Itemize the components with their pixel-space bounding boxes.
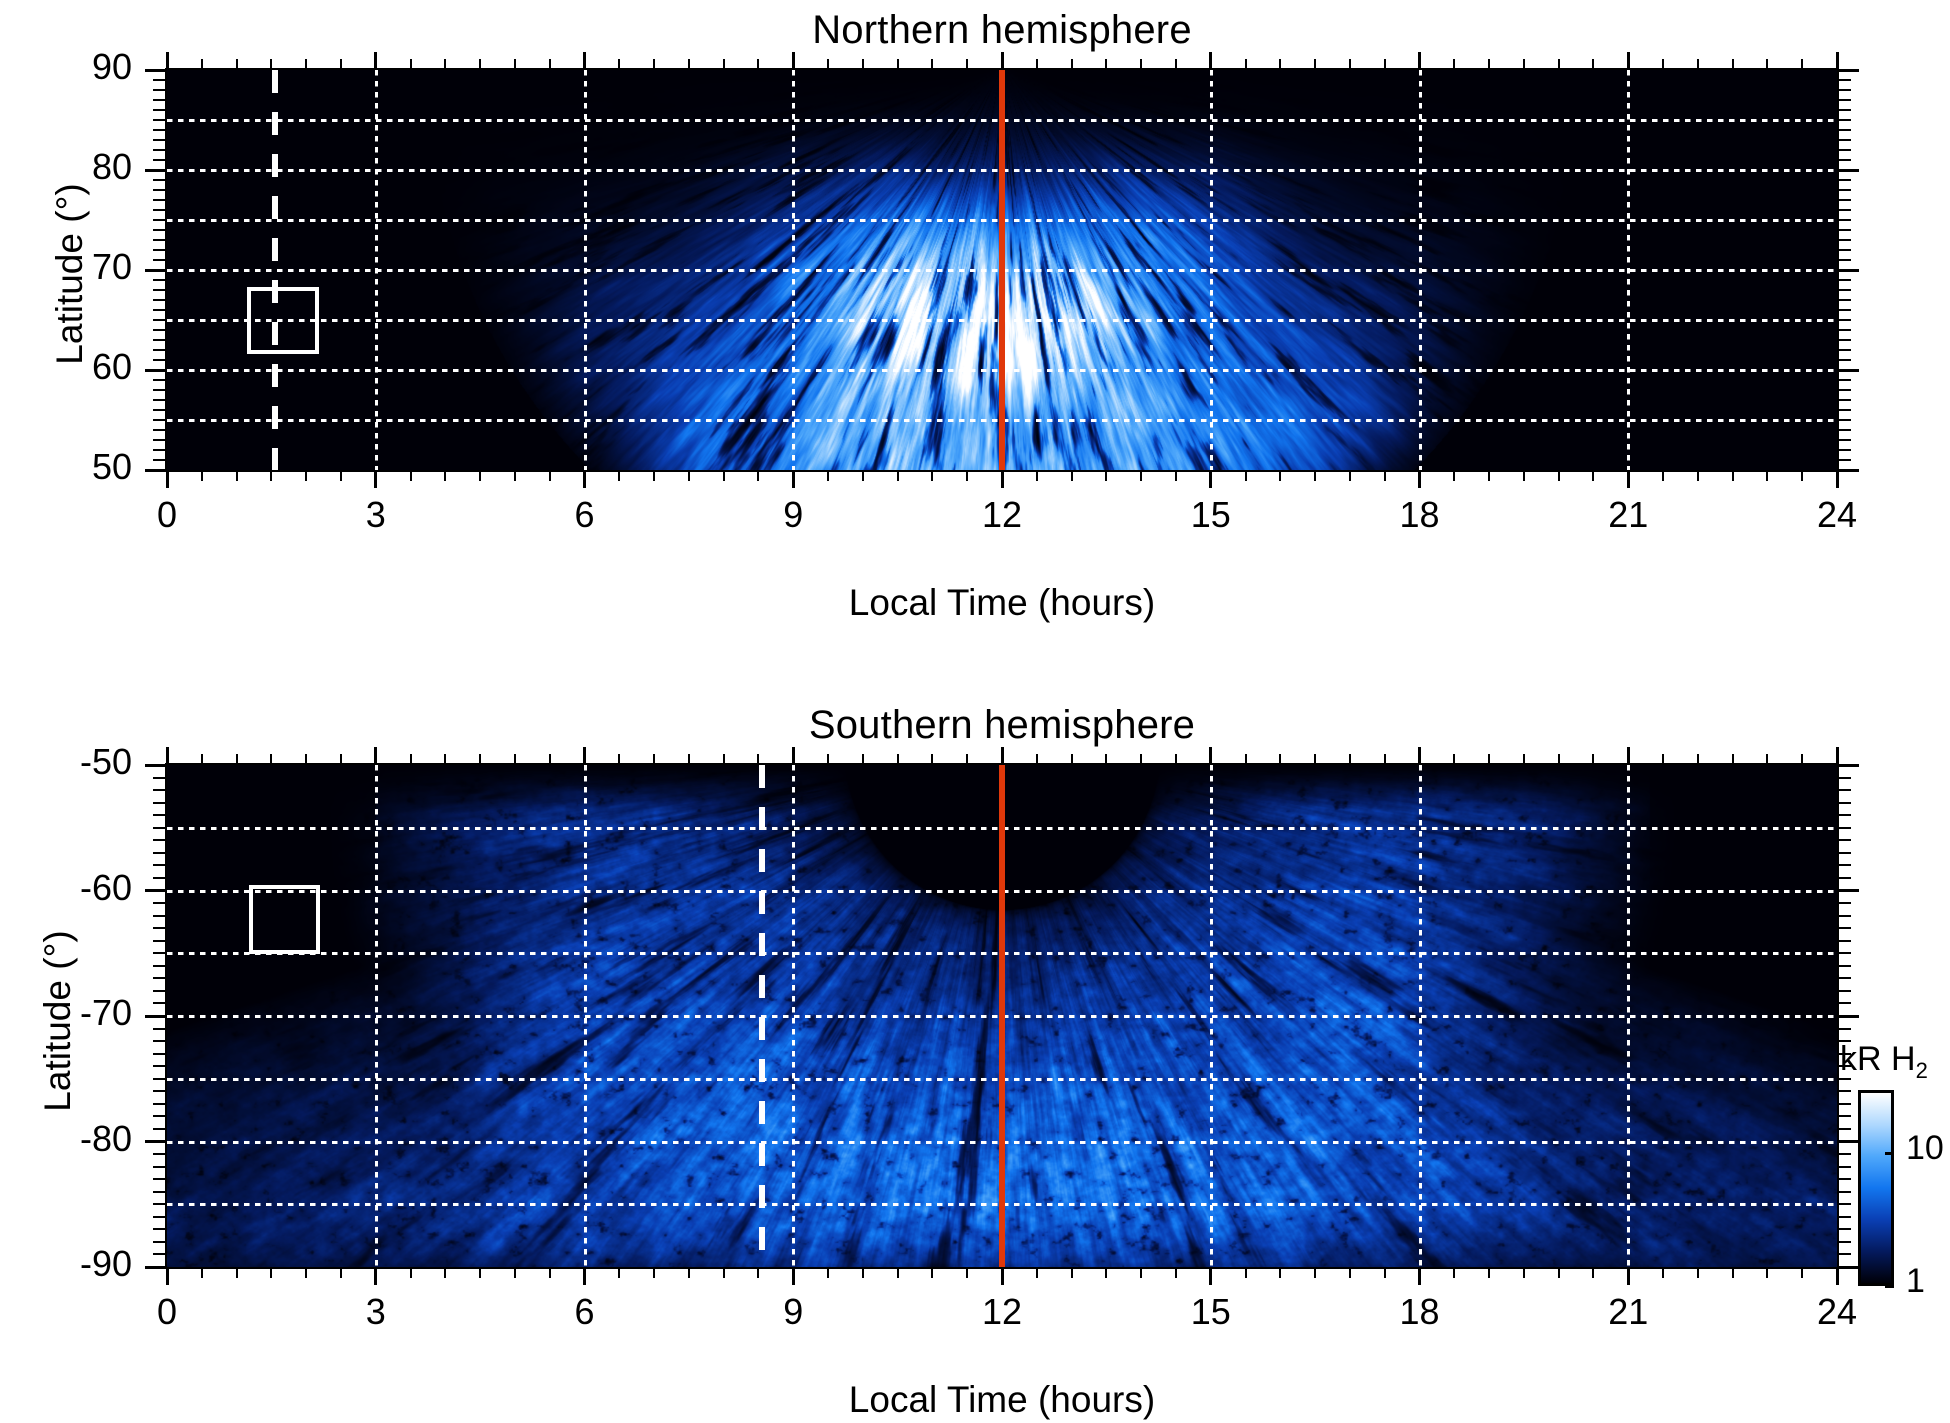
y-tick-minor [153, 459, 167, 461]
x-tick-minor [1349, 470, 1351, 481]
y-tick-minor-right [1837, 239, 1851, 241]
y-tick-label: 60 [2, 346, 132, 388]
x-tick-minor-top [305, 754, 307, 765]
x-tick-minor-top [1349, 59, 1351, 70]
y-tick-minor-right [1837, 79, 1851, 81]
y-tick-minor [153, 1216, 167, 1218]
x-tick-minor [1384, 470, 1386, 481]
x-tick-minor-top [1071, 59, 1073, 70]
x-tick-minor-top [653, 754, 655, 765]
x-tick-minor-top [514, 754, 516, 765]
y-tick-minor-right [1837, 149, 1851, 151]
colorbar[interactable] [1858, 1090, 1894, 1286]
y-tick-minor-right [1837, 777, 1851, 779]
x-tick-label: 24 [1777, 1291, 1897, 1333]
colorbar-tick-label: 10 [1906, 1129, 1944, 1168]
y-tick-minor-right [1837, 279, 1851, 281]
y-tick-minor-right [1837, 99, 1851, 101]
y-tick-label: -70 [2, 992, 132, 1034]
x-tick-minor [1697, 1267, 1699, 1278]
y-tick-minor-right [1837, 249, 1851, 251]
south-heatmap-panel[interactable] [167, 765, 1837, 1267]
x-tick-minor [340, 1267, 342, 1278]
x-tick-minor-top [1453, 754, 1455, 765]
x-tick-minor-top [1314, 754, 1316, 765]
x-tick-minor-top [1384, 754, 1386, 765]
y-tick-minor-right [1837, 1128, 1851, 1130]
colorbar-tick [1885, 1285, 1894, 1288]
south-panel-title: Southern hemisphere [167, 703, 1837, 748]
x-tick-major-top [1836, 52, 1839, 70]
y-tick-minor [153, 1241, 167, 1243]
x-tick-label: 3 [316, 1291, 436, 1333]
y-tick-minor [153, 449, 167, 451]
region-of-interest-box [247, 287, 319, 354]
y-tick-minor-right [1837, 1191, 1851, 1193]
y-tick-minor-right [1837, 1002, 1851, 1004]
x-tick-minor [201, 470, 203, 481]
x-tick-minor [653, 470, 655, 481]
x-tick-minor [444, 470, 446, 481]
y-tick-major-right [1837, 169, 1859, 172]
x-tick-minor-top [1245, 754, 1247, 765]
x-tick-minor [444, 1267, 446, 1278]
x-tick-major-top [1627, 747, 1630, 765]
y-tick-minor-right [1837, 915, 1851, 917]
x-tick-minor-top [1662, 59, 1664, 70]
x-tick-major [1209, 1267, 1212, 1285]
y-tick-minor [153, 1166, 167, 1168]
y-tick-minor [153, 789, 167, 791]
x-tick-minor-top [1140, 754, 1142, 765]
x-tick-minor-top [1349, 754, 1351, 765]
y-tick-major-right [1837, 269, 1859, 272]
y-tick-minor-right [1837, 179, 1851, 181]
y-tick-minor-right [1837, 119, 1851, 121]
x-tick-minor [1592, 1267, 1594, 1278]
north-panel-title: Northern hemisphere [167, 8, 1837, 53]
y-tick-label: 80 [2, 146, 132, 188]
y-tick-minor [153, 379, 167, 381]
x-tick-minor-top [897, 754, 899, 765]
y-tick-major-right [1837, 469, 1859, 472]
y-tick-minor-right [1837, 802, 1851, 804]
x-tick-minor-top [549, 754, 551, 765]
x-tick-minor-top [827, 59, 829, 70]
x-tick-label: 18 [1360, 494, 1480, 536]
x-tick-major-top [166, 747, 169, 765]
y-tick-minor-right [1837, 1090, 1851, 1092]
x-tick-minor-top [1732, 754, 1734, 765]
x-tick-minor-top [1175, 59, 1177, 70]
x-tick-minor [1245, 470, 1247, 481]
y-tick-minor-right [1837, 977, 1851, 979]
x-tick-minor [688, 470, 690, 481]
y-tick-minor [153, 219, 167, 221]
x-tick-minor [1071, 470, 1073, 481]
x-tick-minor-top [1592, 59, 1594, 70]
y-tick-minor-right [1837, 129, 1851, 131]
y-tick-minor [153, 1053, 167, 1055]
x-tick-minor-top [1488, 754, 1490, 765]
y-tick-minor [153, 1153, 167, 1155]
x-tick-minor [862, 470, 864, 481]
x-tick-minor-top [1245, 59, 1247, 70]
y-tick-minor-right [1837, 1078, 1851, 1080]
south-x-axis-label: Local Time (hours) [167, 1379, 1837, 1421]
x-tick-major [792, 470, 795, 488]
x-tick-minor [931, 1267, 933, 1278]
x-tick-minor [688, 1267, 690, 1278]
y-tick-major [145, 269, 167, 272]
x-tick-minor [1766, 470, 1768, 481]
x-tick-minor-top [1558, 59, 1560, 70]
y-tick-minor-right [1837, 1203, 1851, 1205]
x-tick-major-top [1836, 747, 1839, 765]
x-tick-minor [1453, 470, 1455, 481]
y-tick-minor-right [1837, 319, 1851, 321]
x-tick-major-top [583, 747, 586, 765]
y-tick-label: -80 [2, 1118, 132, 1160]
x-tick-minor-top [479, 754, 481, 765]
y-tick-minor [153, 439, 167, 441]
y-tick-minor [153, 990, 167, 992]
y-tick-minor-right [1837, 839, 1851, 841]
x-tick-minor [1558, 1267, 1560, 1278]
y-tick-minor-right [1837, 952, 1851, 954]
north-heatmap-panel[interactable] [167, 70, 1837, 470]
x-tick-minor [305, 1267, 307, 1278]
x-tick-minor-top [340, 59, 342, 70]
y-tick-minor [153, 940, 167, 942]
x-tick-minor [236, 470, 238, 481]
y-tick-minor [153, 409, 167, 411]
x-tick-major-top [374, 747, 377, 765]
x-tick-minor-top [1697, 754, 1699, 765]
x-tick-major-top [792, 52, 795, 70]
x-tick-minor-top [757, 754, 759, 765]
x-tick-minor [897, 1267, 899, 1278]
x-tick-minor-top [966, 754, 968, 765]
y-tick-minor-right [1837, 299, 1851, 301]
x-tick-minor [514, 470, 516, 481]
x-tick-minor [514, 1267, 516, 1278]
x-tick-minor [1245, 1267, 1247, 1278]
x-tick-minor [1314, 470, 1316, 481]
x-tick-minor-top [479, 59, 481, 70]
x-tick-minor-top [236, 59, 238, 70]
x-tick-minor [1523, 470, 1525, 481]
x-tick-minor [479, 470, 481, 481]
y-tick-minor-right [1837, 399, 1851, 401]
y-tick-minor [153, 189, 167, 191]
y-tick-minor [153, 915, 167, 917]
y-tick-minor-right [1837, 329, 1851, 331]
x-tick-minor-top [653, 59, 655, 70]
x-tick-minor-top [270, 754, 272, 765]
x-tick-minor-top [410, 754, 412, 765]
y-tick-minor-right [1837, 1065, 1851, 1067]
y-tick-minor [153, 1090, 167, 1092]
x-tick-label: 12 [942, 494, 1062, 536]
x-tick-minor [966, 470, 968, 481]
y-tick-label: 70 [2, 246, 132, 288]
y-tick-minor [153, 309, 167, 311]
x-tick-minor [1523, 1267, 1525, 1278]
x-tick-major [166, 1267, 169, 1285]
x-tick-minor-top [1175, 754, 1177, 765]
y-tick-minor [153, 349, 167, 351]
y-tick-minor [153, 1178, 167, 1180]
x-tick-minor [270, 470, 272, 481]
x-tick-minor [479, 1267, 481, 1278]
y-tick-minor [153, 109, 167, 111]
y-tick-minor [153, 249, 167, 251]
x-tick-minor-top [340, 754, 342, 765]
y-tick-minor-right [1837, 1103, 1851, 1105]
y-tick-minor [153, 329, 167, 331]
x-tick-minor [1071, 1267, 1073, 1278]
y-tick-minor-right [1837, 259, 1851, 261]
x-tick-minor [931, 470, 933, 481]
y-tick-major [145, 889, 167, 892]
x-tick-label: 9 [733, 494, 853, 536]
y-tick-minor-right [1837, 429, 1851, 431]
x-tick-major [1001, 1267, 1004, 1285]
x-tick-minor-top [931, 59, 933, 70]
y-tick-minor-right [1837, 419, 1851, 421]
y-tick-minor [153, 239, 167, 241]
x-tick-major-top [1001, 747, 1004, 765]
y-tick-minor-right [1837, 1253, 1851, 1255]
y-tick-minor [153, 1115, 167, 1117]
x-tick-label: 3 [316, 494, 436, 536]
x-tick-minor [1488, 1267, 1490, 1278]
x-tick-minor [1801, 470, 1803, 481]
y-tick-minor [153, 952, 167, 954]
x-tick-minor [1036, 470, 1038, 481]
x-tick-minor-top [618, 754, 620, 765]
y-tick-minor-right [1837, 209, 1851, 211]
noon-meridian-line [999, 765, 1005, 1267]
x-tick-minor [410, 1267, 412, 1278]
y-tick-label: -90 [2, 1243, 132, 1285]
y-tick-minor [153, 99, 167, 101]
y-tick-major-right [1837, 369, 1859, 372]
y-tick-minor [153, 389, 167, 391]
x-tick-minor-top [723, 754, 725, 765]
x-tick-minor [618, 470, 620, 481]
y-tick-minor-right [1837, 139, 1851, 141]
y-tick-minor [153, 977, 167, 979]
y-tick-minor [153, 229, 167, 231]
y-tick-minor-right [1837, 359, 1851, 361]
x-tick-minor [549, 1267, 551, 1278]
x-tick-major-top [1627, 52, 1630, 70]
y-tick-minor [153, 1128, 167, 1130]
noon-meridian-line [999, 70, 1005, 470]
y-tick-minor [153, 1191, 167, 1193]
y-tick-minor-right [1837, 339, 1851, 341]
y-tick-minor [153, 1002, 167, 1004]
x-tick-minor [1766, 1267, 1768, 1278]
x-tick-label: 6 [525, 1291, 645, 1333]
x-tick-major [792, 1267, 795, 1285]
y-tick-major [145, 764, 167, 767]
y-tick-major [145, 69, 167, 72]
y-tick-minor [153, 259, 167, 261]
x-tick-minor-top [862, 59, 864, 70]
x-tick-minor-top [1592, 754, 1594, 765]
x-tick-minor [723, 470, 725, 481]
y-tick-minor-right [1837, 229, 1851, 231]
y-tick-minor [153, 429, 167, 431]
x-tick-minor [270, 1267, 272, 1278]
y-tick-minor [153, 852, 167, 854]
x-tick-minor-top [444, 59, 446, 70]
y-tick-minor [153, 902, 167, 904]
x-tick-minor-top [618, 59, 620, 70]
x-tick-minor [1801, 1267, 1803, 1278]
x-tick-minor [618, 1267, 620, 1278]
y-tick-minor [153, 419, 167, 421]
y-tick-minor [153, 139, 167, 141]
x-tick-major [166, 470, 169, 488]
y-tick-minor-right [1837, 1028, 1851, 1030]
y-tick-major [145, 1015, 167, 1018]
colorbar-title-text: kR H [1840, 1040, 1916, 1078]
x-tick-major [1627, 470, 1630, 488]
y-tick-minor [153, 1078, 167, 1080]
y-tick-minor-right [1837, 990, 1851, 992]
x-tick-major [1209, 470, 1212, 488]
x-tick-major-top [1001, 52, 1004, 70]
x-tick-minor [897, 470, 899, 481]
colorbar-title: kR H2 [1840, 1040, 1928, 1084]
x-tick-major [374, 470, 377, 488]
y-tick-major-right [1837, 69, 1859, 72]
x-tick-minor [862, 1267, 864, 1278]
x-tick-minor [201, 1267, 203, 1278]
x-tick-minor-top [270, 59, 272, 70]
x-tick-minor-top [1662, 754, 1664, 765]
x-tick-minor-top [897, 59, 899, 70]
x-tick-minor-top [1105, 754, 1107, 765]
y-tick-minor-right [1837, 864, 1851, 866]
y-tick-minor [153, 209, 167, 211]
x-tick-major-top [1418, 52, 1421, 70]
x-tick-label: 21 [1568, 1291, 1688, 1333]
x-tick-minor-top [1314, 59, 1316, 70]
x-tick-minor-top [201, 59, 203, 70]
x-tick-label: 9 [733, 1291, 853, 1333]
y-tick-major-right [1837, 1015, 1859, 1018]
x-tick-minor [410, 470, 412, 481]
y-tick-minor [153, 1103, 167, 1105]
y-tick-minor [153, 864, 167, 866]
south-grid-overlay [167, 765, 1837, 1267]
x-tick-major [1418, 1267, 1421, 1285]
y-tick-minor [153, 827, 167, 829]
y-tick-minor-right [1837, 309, 1851, 311]
x-tick-minor-top [1523, 59, 1525, 70]
y-tick-minor-right [1837, 1241, 1851, 1243]
x-tick-minor [1279, 1267, 1281, 1278]
y-tick-minor [153, 1028, 167, 1030]
x-tick-minor [1279, 470, 1281, 481]
x-tick-minor-top [1523, 754, 1525, 765]
x-tick-minor [1592, 470, 1594, 481]
y-tick-label: 50 [2, 446, 132, 488]
y-tick-minor-right [1837, 199, 1851, 201]
x-tick-minor-top [1766, 754, 1768, 765]
x-tick-major-top [1418, 747, 1421, 765]
x-tick-minor-top [1036, 59, 1038, 70]
y-tick-minor [153, 802, 167, 804]
x-tick-minor [1105, 470, 1107, 481]
y-tick-minor [153, 179, 167, 181]
y-tick-minor [153, 289, 167, 291]
y-tick-label: -60 [2, 867, 132, 909]
x-tick-minor-top [1801, 754, 1803, 765]
x-tick-minor-top [1036, 754, 1038, 765]
y-tick-minor-right [1837, 814, 1851, 816]
x-tick-major-top [792, 747, 795, 765]
x-tick-minor [236, 1267, 238, 1278]
y-tick-minor [153, 1065, 167, 1067]
y-tick-major [145, 469, 167, 472]
y-tick-minor-right [1837, 409, 1851, 411]
y-tick-major [145, 1140, 167, 1143]
colorbar-tick [1885, 1152, 1894, 1155]
x-tick-major-top [583, 52, 586, 70]
x-tick-minor-top [514, 59, 516, 70]
x-tick-minor-top [410, 59, 412, 70]
x-tick-minor-top [688, 754, 690, 765]
x-tick-minor-top [688, 59, 690, 70]
x-tick-minor [549, 470, 551, 481]
y-tick-minor [153, 149, 167, 151]
y-tick-minor [153, 399, 167, 401]
x-tick-minor-top [1071, 754, 1073, 765]
x-tick-label: 12 [942, 1291, 1062, 1333]
x-tick-minor-top [549, 59, 551, 70]
y-tick-minor-right [1837, 902, 1851, 904]
x-tick-major [583, 470, 586, 488]
x-tick-major [1627, 1267, 1630, 1285]
x-tick-label: 15 [1151, 494, 1271, 536]
y-tick-minor-right [1837, 379, 1851, 381]
x-tick-minor-top [1697, 59, 1699, 70]
x-tick-minor-top [1732, 59, 1734, 70]
y-tick-minor [153, 359, 167, 361]
y-tick-minor [153, 877, 167, 879]
y-tick-minor-right [1837, 219, 1851, 221]
x-tick-label: 15 [1151, 1291, 1271, 1333]
x-tick-minor [827, 1267, 829, 1278]
x-tick-minor [1384, 1267, 1386, 1278]
x-tick-minor-top [931, 754, 933, 765]
y-tick-minor [153, 339, 167, 341]
x-tick-minor [1558, 470, 1560, 481]
y-tick-minor [153, 839, 167, 841]
x-tick-minor [1662, 1267, 1664, 1278]
x-tick-minor [1732, 470, 1734, 481]
x-tick-minor-top [1279, 754, 1281, 765]
y-tick-minor-right [1837, 389, 1851, 391]
x-tick-label: 18 [1360, 1291, 1480, 1333]
y-tick-minor [153, 159, 167, 161]
